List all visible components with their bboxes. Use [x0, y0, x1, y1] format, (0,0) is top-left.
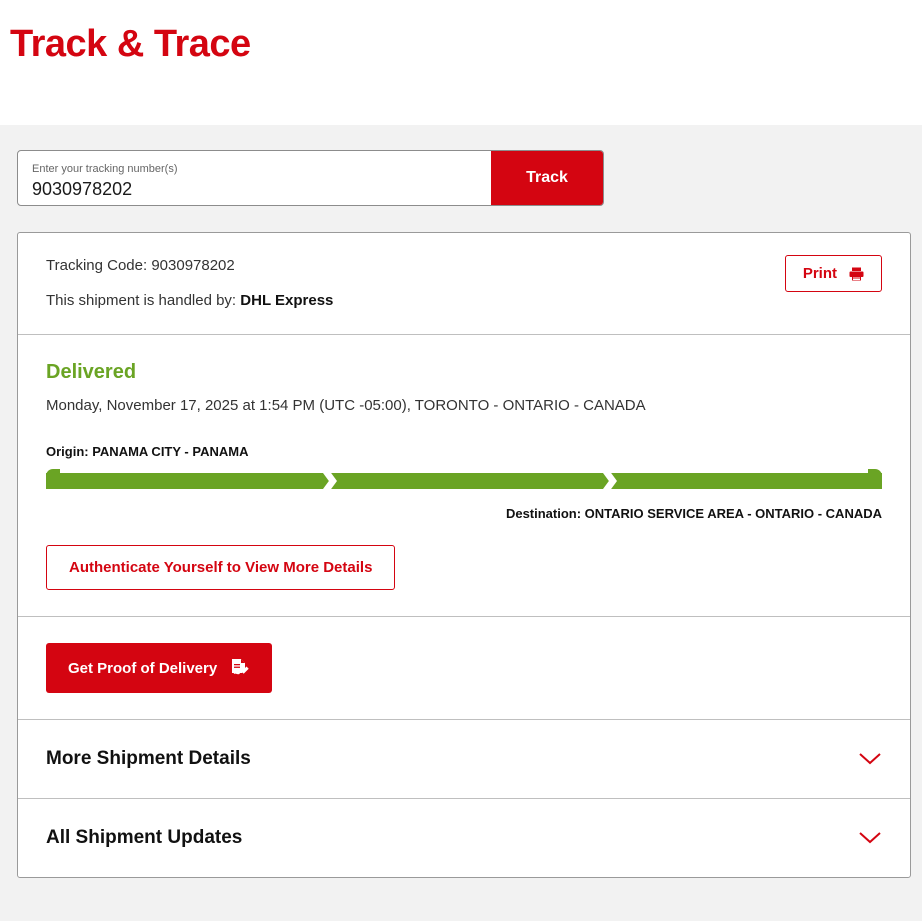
carrier-name: DHL Express [240, 292, 333, 309]
pod-button-label: Get Proof of Delivery [68, 660, 217, 677]
get-proof-of-delivery-button[interactable]: Get Proof of Delivery [46, 643, 272, 693]
shipment-meta: Tracking Code: 9030978202 This shipment … [46, 253, 333, 312]
destination-label: Destination: ONTARIO SERVICE AREA - ONTA… [46, 505, 882, 523]
track-button[interactable]: Track [491, 151, 603, 205]
accordion-title: All Shipment Updates [46, 826, 242, 850]
status-detail-text: Monday, November 17, 2025 at 1:54 PM (UT… [46, 395, 882, 417]
accordion-more-shipment-details[interactable]: More Shipment Details [18, 720, 910, 798]
progress-segment-fill [46, 473, 882, 489]
tracking-input-label: Enter your tracking number(s) [32, 162, 491, 176]
printer-icon [849, 267, 864, 281]
print-button-label: Print [803, 265, 837, 282]
print-button[interactable]: Print [785, 255, 882, 292]
progress-cap-right [868, 469, 882, 489]
proof-of-delivery-section: Get Proof of Delivery [18, 617, 910, 719]
accordion-all-shipment-updates[interactable]: All Shipment Updates [18, 799, 910, 877]
page-header: Track & Trace [0, 0, 922, 125]
chevron-down-icon[interactable] [858, 752, 882, 766]
shipment-progress-bar [46, 469, 882, 495]
shipment-status-section: Delivered Monday, November 17, 2025 at 1… [18, 335, 910, 616]
tracking-code-text: Tracking Code: 9030978202 [46, 255, 333, 277]
chevron-down-icon[interactable] [858, 831, 882, 845]
page-title: Track & Trace [10, 10, 922, 66]
document-signature-icon [231, 658, 250, 678]
authenticate-button[interactable]: Authenticate Yourself to View More Detai… [46, 545, 395, 590]
page-body: Enter your tracking number(s) 9030978202… [0, 125, 922, 878]
tracking-number-field[interactable]: Enter your tracking number(s) 9030978202 [18, 151, 491, 205]
tracking-search-box: Enter your tracking number(s) 9030978202… [17, 150, 604, 206]
handled-by-text: This shipment is handled by: DHL Express [46, 290, 333, 312]
progress-track [46, 469, 882, 489]
status-badge: Delivered [46, 359, 882, 385]
tracking-input-value[interactable]: 9030978202 [32, 177, 491, 201]
handled-by-prefix: This shipment is handled by: [46, 292, 240, 309]
tracking-search-area: Enter your tracking number(s) 9030978202… [0, 125, 922, 206]
shipment-result-card: Tracking Code: 9030978202 This shipment … [17, 232, 911, 878]
accordion-title: More Shipment Details [46, 747, 251, 771]
shipment-header-section: Tracking Code: 9030978202 This shipment … [18, 233, 910, 334]
origin-label: Origin: PANAMA CITY - PANAMA [46, 443, 882, 461]
